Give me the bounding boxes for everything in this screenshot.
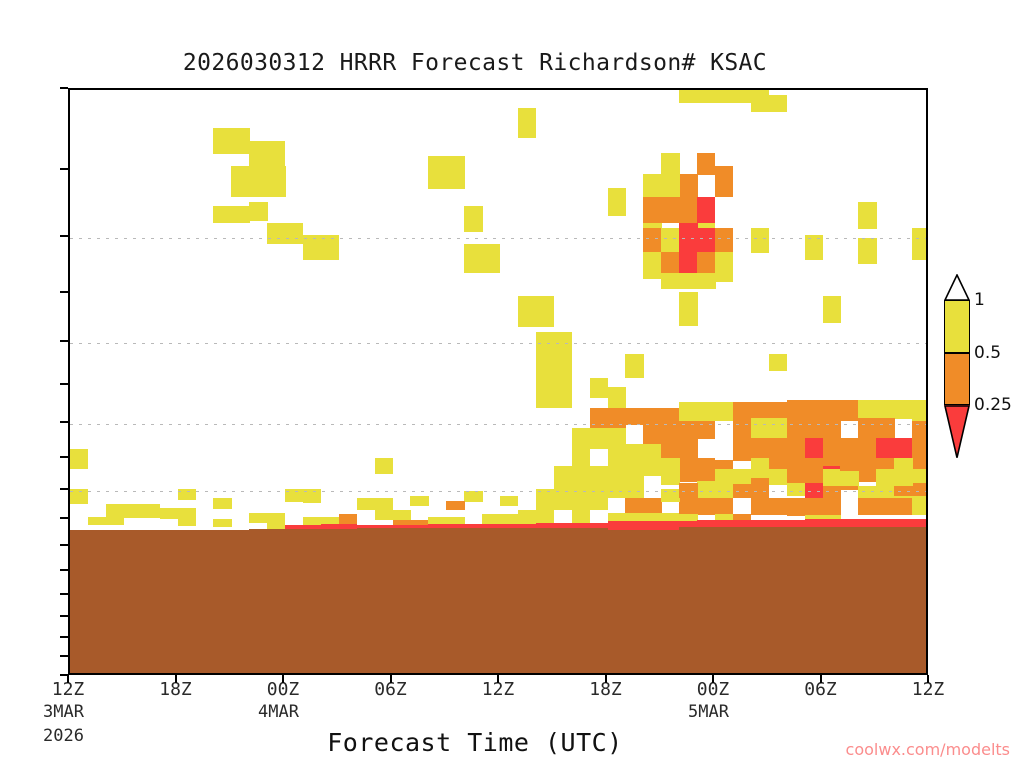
heatmap-cell [661, 458, 679, 472]
heatmap-cell [303, 235, 339, 259]
heatmap-cell [715, 252, 733, 282]
terrain-band [608, 530, 681, 675]
gridline-600 [70, 491, 926, 492]
x-tick-mark-8 [927, 675, 929, 683]
heatmap-cell [912, 400, 928, 421]
y-tick-mark-600 [60, 488, 68, 490]
heatmap-cell [823, 296, 841, 322]
heatmap-cell [249, 513, 285, 523]
heatmap-cell [536, 371, 572, 408]
heatmap-cell [661, 228, 679, 253]
heatmap-cell [643, 252, 661, 278]
heatmap-cell [213, 128, 249, 154]
colorbar-segment-0.25-0.5 [944, 353, 970, 406]
heatmap-cell [572, 449, 590, 466]
x-tick-mark-0 [67, 675, 69, 683]
y-tick-mark-700 [60, 544, 68, 546]
heatmap-cell [679, 402, 733, 421]
heatmap-cell [697, 458, 715, 473]
heatmap-cell [625, 481, 643, 494]
colorbar-label-1: 1 [974, 290, 985, 310]
y-tick-mark-400 [60, 340, 68, 342]
heatmap-cell [178, 519, 196, 526]
x-sublabel-3MAR: 3MAR [43, 702, 84, 722]
terrain-band [679, 527, 928, 675]
heatmap-cell [446, 501, 464, 510]
heatmap-cell [661, 197, 697, 224]
terrain-band [70, 530, 250, 675]
heatmap-cell [625, 354, 643, 378]
heatmap-cell [679, 292, 697, 326]
y-tick-mark-800 [60, 593, 68, 595]
y-tick-mark-950 [60, 655, 68, 657]
heatmap-cell [482, 514, 518, 525]
y-tick-mark-650 [60, 517, 68, 519]
heatmap-cell [858, 202, 876, 228]
colorbar: 10.50.25 [944, 300, 970, 458]
heatmap-cell [106, 504, 160, 518]
heatmap-cell [715, 469, 751, 484]
y-tick-mark-200 [60, 87, 68, 89]
heatmap-cell [160, 508, 196, 519]
x-tick-mark-4 [497, 675, 499, 683]
heatmap-cell [751, 458, 769, 472]
heatmap-cell [608, 188, 626, 215]
heatmap-cell [751, 418, 787, 439]
heatmap-cell [357, 498, 393, 510]
heatmap-cell [876, 438, 912, 458]
terrain-band [357, 528, 609, 675]
heatmap-cell [805, 235, 823, 259]
heatmap-cell [661, 469, 679, 485]
heatmap-cell [733, 402, 787, 419]
heatmap-cell [787, 483, 805, 496]
heatmap-cell [554, 483, 572, 496]
heatmap-cell [715, 166, 733, 198]
y-tick-mark-350 [60, 291, 68, 293]
heatmap-cell [733, 418, 751, 439]
heatmap-cell [518, 108, 536, 138]
heatmap-cell [769, 354, 787, 372]
heatmap-cell [661, 273, 715, 290]
heatmap-cell [428, 156, 464, 188]
heatmap-cell [375, 458, 393, 474]
x-tick-mark-7 [820, 675, 822, 683]
heatmap-cell [697, 153, 715, 174]
heatmap-cell [858, 498, 912, 515]
heatmap-cell [858, 400, 912, 419]
heatmap-cell [500, 496, 518, 507]
gridline-500 [70, 424, 926, 425]
heatmap-cell [661, 252, 679, 273]
gridline-300 [70, 238, 926, 239]
plot-area [68, 88, 928, 675]
heatmap-cell [858, 238, 876, 264]
heatmap-cell [213, 498, 231, 509]
heatmap-cell [715, 486, 733, 499]
heatmap-cell [267, 223, 303, 244]
colorbar-label-0-25: 0.25 [974, 395, 1012, 415]
x-sublabel-4MAR: 4MAR [258, 702, 299, 722]
heatmap-cell [536, 332, 572, 372]
heatmap-cell [876, 469, 912, 487]
heatmap-cell [590, 408, 626, 429]
heatmap-cell [249, 202, 267, 221]
colorbar-cap-outline-top [944, 274, 970, 301]
colorbar-segment-0.5-1 [944, 300, 970, 353]
x-tick-mark-5 [605, 675, 607, 683]
y-tick-mark-450 [60, 383, 68, 385]
heatmap-cell [464, 244, 500, 273]
y-tick-mark-750 [60, 569, 68, 571]
x-tick-mark-6 [712, 675, 714, 683]
chart-page: 2026030312 HRRR Forecast Richardson# KSA… [0, 0, 1024, 768]
colorbar-cap-outline-bottom [944, 405, 970, 460]
gridline-400 [70, 343, 926, 344]
heatmap-cell [608, 387, 626, 408]
heatmap-cell [375, 510, 411, 521]
heatmap-cell [751, 228, 769, 253]
heatmap-cell [912, 444, 928, 469]
x-sublabel-5MAR: 5MAR [688, 702, 729, 722]
heatmap-cell [231, 166, 285, 198]
watermark: coolwx.com/modelts [846, 740, 1010, 759]
heatmap-cell [697, 197, 715, 224]
x-axis-label: Forecast Time (UTC) [0, 728, 950, 757]
heatmap-cell [339, 514, 357, 525]
heatmap-cell [213, 519, 231, 527]
heatmap-cell [643, 174, 679, 197]
heatmap-cell [643, 197, 661, 224]
chart-title: 2026030312 HRRR Forecast Richardson# KSA… [0, 50, 950, 76]
heatmap-cell [625, 408, 679, 425]
y-tick-mark-250 [60, 168, 68, 170]
heatmap-cell [823, 469, 859, 487]
heatmap-cell [213, 206, 249, 223]
heatmap-cell [769, 469, 787, 485]
heatmap-cell [787, 400, 859, 421]
heatmap-cell [88, 517, 124, 525]
y-tick-mark-300 [60, 235, 68, 237]
heatmap-cell [679, 498, 733, 515]
heatmap-cell [70, 489, 88, 504]
heatmap-cell [590, 378, 608, 399]
y-tick-mark-550 [60, 456, 68, 458]
heatmap-cell [518, 296, 554, 326]
heatmap-cell [751, 95, 787, 111]
colorbar-label-0-5: 0.5 [974, 343, 1001, 363]
heatmap-cell [643, 228, 661, 253]
x-tick-mark-1 [175, 675, 177, 683]
heatmap-cell [858, 418, 894, 439]
heatmap-cell [805, 438, 823, 458]
x-tick-mark-2 [282, 675, 284, 683]
heatmap-cell [912, 238, 928, 260]
heatmap-cell [858, 486, 876, 499]
heatmap-cell [625, 498, 661, 514]
y-tick-mark-850 [60, 615, 68, 617]
heatmap-cell [894, 458, 912, 472]
y-tick-mark-500 [60, 421, 68, 423]
heatmap-cell [464, 206, 482, 232]
heatmap-cell [661, 153, 679, 174]
y-tick-mark-900 [60, 636, 68, 638]
heatmap-cell [590, 491, 608, 502]
heatmap-cell [679, 174, 697, 197]
heatmap-cell [410, 496, 428, 507]
heatmap-cell [464, 491, 482, 502]
terrain-band [249, 529, 358, 675]
x-tick-mark-3 [390, 675, 392, 683]
heatmap-cell [840, 458, 858, 472]
heatmap-cell [70, 449, 88, 469]
heatmap-cell [715, 228, 733, 253]
